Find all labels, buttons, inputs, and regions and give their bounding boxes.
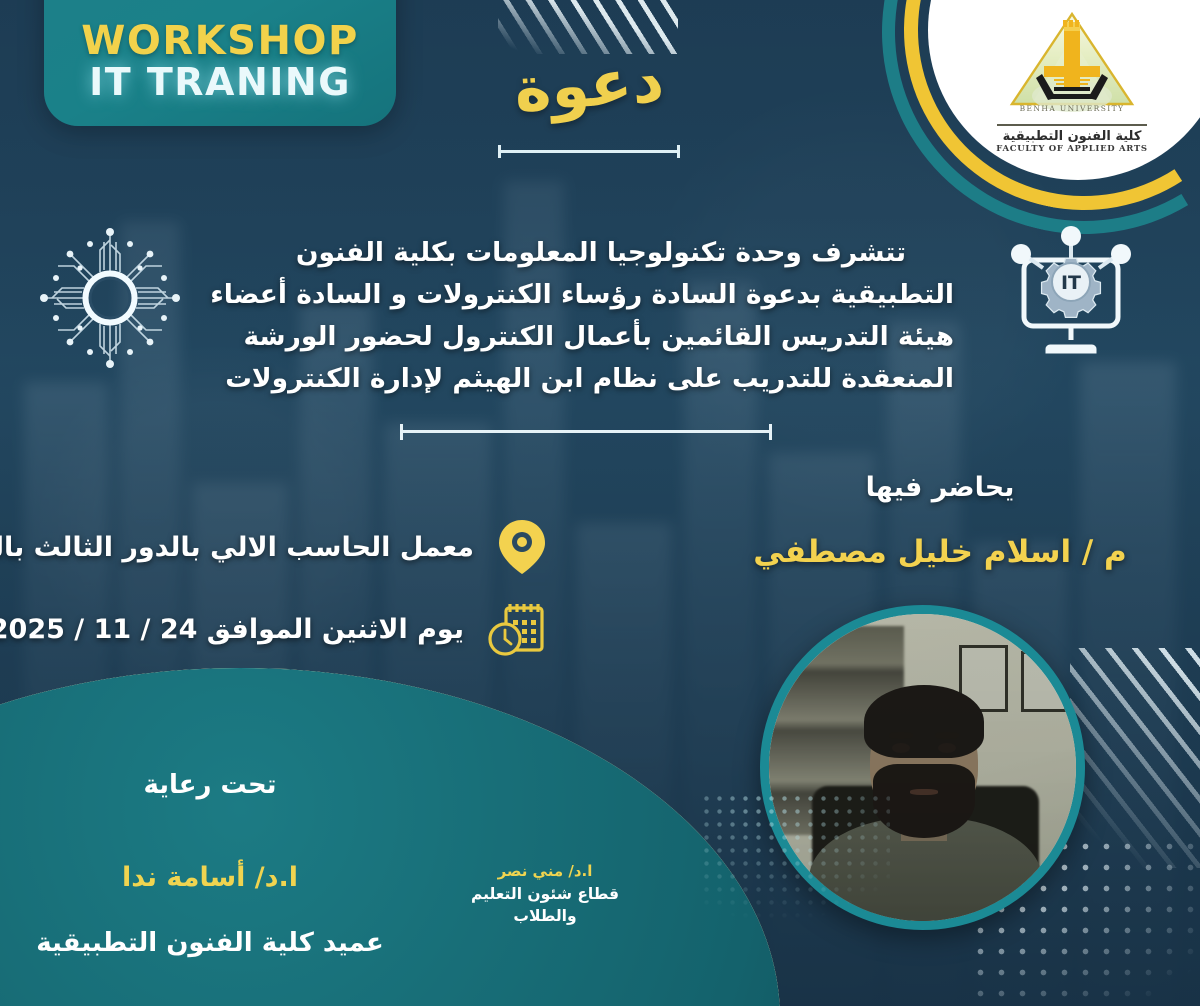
workshop-title-badge: WORKSHOP IT TRANING	[44, 0, 396, 126]
section-divider	[400, 424, 772, 440]
education-sector-block: ا.د/ مني نصر قطاع شئون التعليم والطلاب	[430, 862, 660, 926]
it-training-label: IT TRANING	[89, 62, 351, 104]
speaker-label: يحاضر فيها	[740, 472, 1140, 503]
date-row: يوم الاثنين الموافق 24 / 11 / 2025	[0, 598, 548, 660]
calligraphy-rule	[498, 145, 680, 157]
body-line-2: التطبيقية بدعوة السادة رؤساء الكنترولات …	[248, 274, 954, 316]
patronage-role: عميد كلية الفنون التطبيقية	[0, 928, 420, 958]
body-line-4: المنعقدة للتدريب على نظام ابن الهيثم لإد…	[248, 358, 954, 400]
circuit-network-icon	[28, 216, 192, 380]
sector-name: ا.د/ مني نصر	[430, 862, 660, 882]
invitation-calligraphy: دعوة	[493, 36, 685, 135]
patronage-name: ا.د/ أسامة ندا	[0, 862, 420, 893]
faculty-name-arabic: كلية الفنون التطبيقية	[1003, 129, 1142, 144]
date-text: يوم الاثنين الموافق 24 / 11 / 2025	[0, 614, 464, 645]
poster-canvas: WORKSHOP IT TRANING دعوة	[0, 0, 1200, 1006]
halftone-dots-decor-curve	[700, 792, 890, 922]
location-pin-icon	[496, 516, 548, 578]
it-monitor-gear-icon: IT	[996, 222, 1146, 364]
it-badge-text: IT	[1061, 272, 1081, 294]
diagonal-stripes-decor-right	[1070, 648, 1200, 868]
benha-university-crest-icon: BENHA UNIVERSITY	[1006, 8, 1138, 120]
body-line-3: هيئة التدريس القائمين بأعمال الكنترول لح…	[248, 316, 954, 358]
calendar-clock-icon	[486, 598, 548, 660]
sector-role-line-1: قطاع شئون التعليم	[430, 884, 660, 904]
logo-divider	[997, 124, 1147, 126]
invitation-body: تتشرف وحدة تكنولوجيا المعلومات بكلية الف…	[248, 232, 954, 399]
speaker-name: م / اسلام خليل مصطفي	[720, 534, 1160, 570]
faculty-name-english: FACULTY OF APPLIED ARTS	[996, 144, 1148, 154]
university-logo: BENHA UNIVERSITY كلية الفنون التطبيقية F…	[962, 8, 1182, 176]
patronage-label: تحت رعاية	[0, 770, 420, 800]
crest-university-name: BENHA UNIVERSITY	[1020, 104, 1125, 113]
location-row: معمل الحاسب الالي بالدور الثالث بالكلية	[0, 516, 548, 578]
location-text: معمل الحاسب الالي بالدور الثالث بالكلية	[0, 532, 474, 563]
body-line-1: تتشرف وحدة تكنولوجيا المعلومات بكلية الف…	[248, 232, 954, 274]
sector-role-line-2: والطلاب	[430, 906, 660, 926]
workshop-label: WORKSHOP	[81, 20, 359, 62]
